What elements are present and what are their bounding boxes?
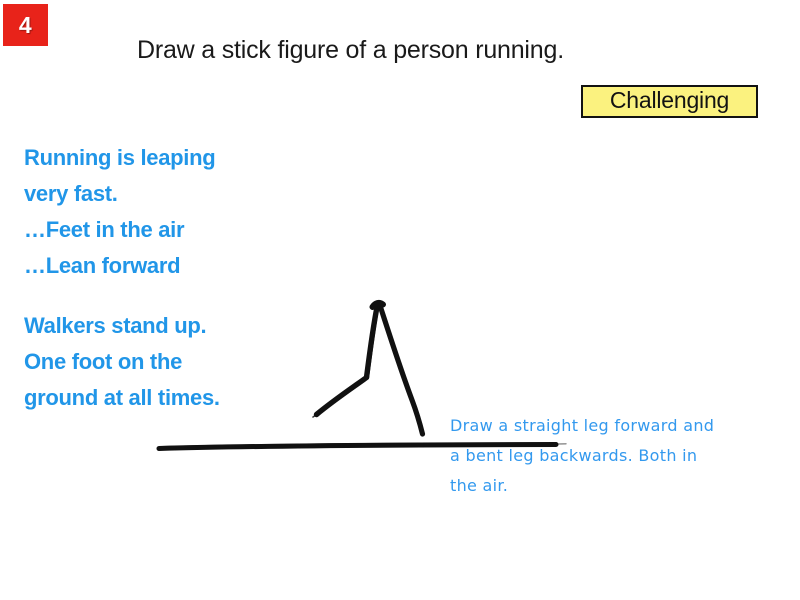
sketch-annotation-text: Draw a straight leg forward and a bent l… (450, 411, 800, 501)
walking-note-text: Walkers stand up. One foot on the ground… (24, 308, 220, 416)
straight-leg-stroke (380, 304, 423, 434)
ground-line-left-tail (158, 449, 176, 450)
slide-number-label: 4 (19, 14, 32, 37)
slide-canvas: 4 Draw a stick figure of a person runnin… (0, 0, 800, 600)
page-title: Draw a stick figure of a person running. (137, 36, 564, 65)
bent-leg-taper-tip (313, 411, 322, 417)
slide-number-badge: 4 (3, 4, 48, 46)
straight-leg-stroke-texture (381, 307, 424, 435)
difficulty-badge: Challenging (581, 85, 758, 118)
bent-leg-stroke (317, 305, 378, 415)
hip-apex-stroke (373, 303, 384, 307)
difficulty-badge-label: Challenging (610, 89, 729, 112)
bent-leg-stroke-texture (317, 306, 379, 416)
running-note-text: Running is leaping very fast. …Feet in t… (24, 140, 215, 284)
